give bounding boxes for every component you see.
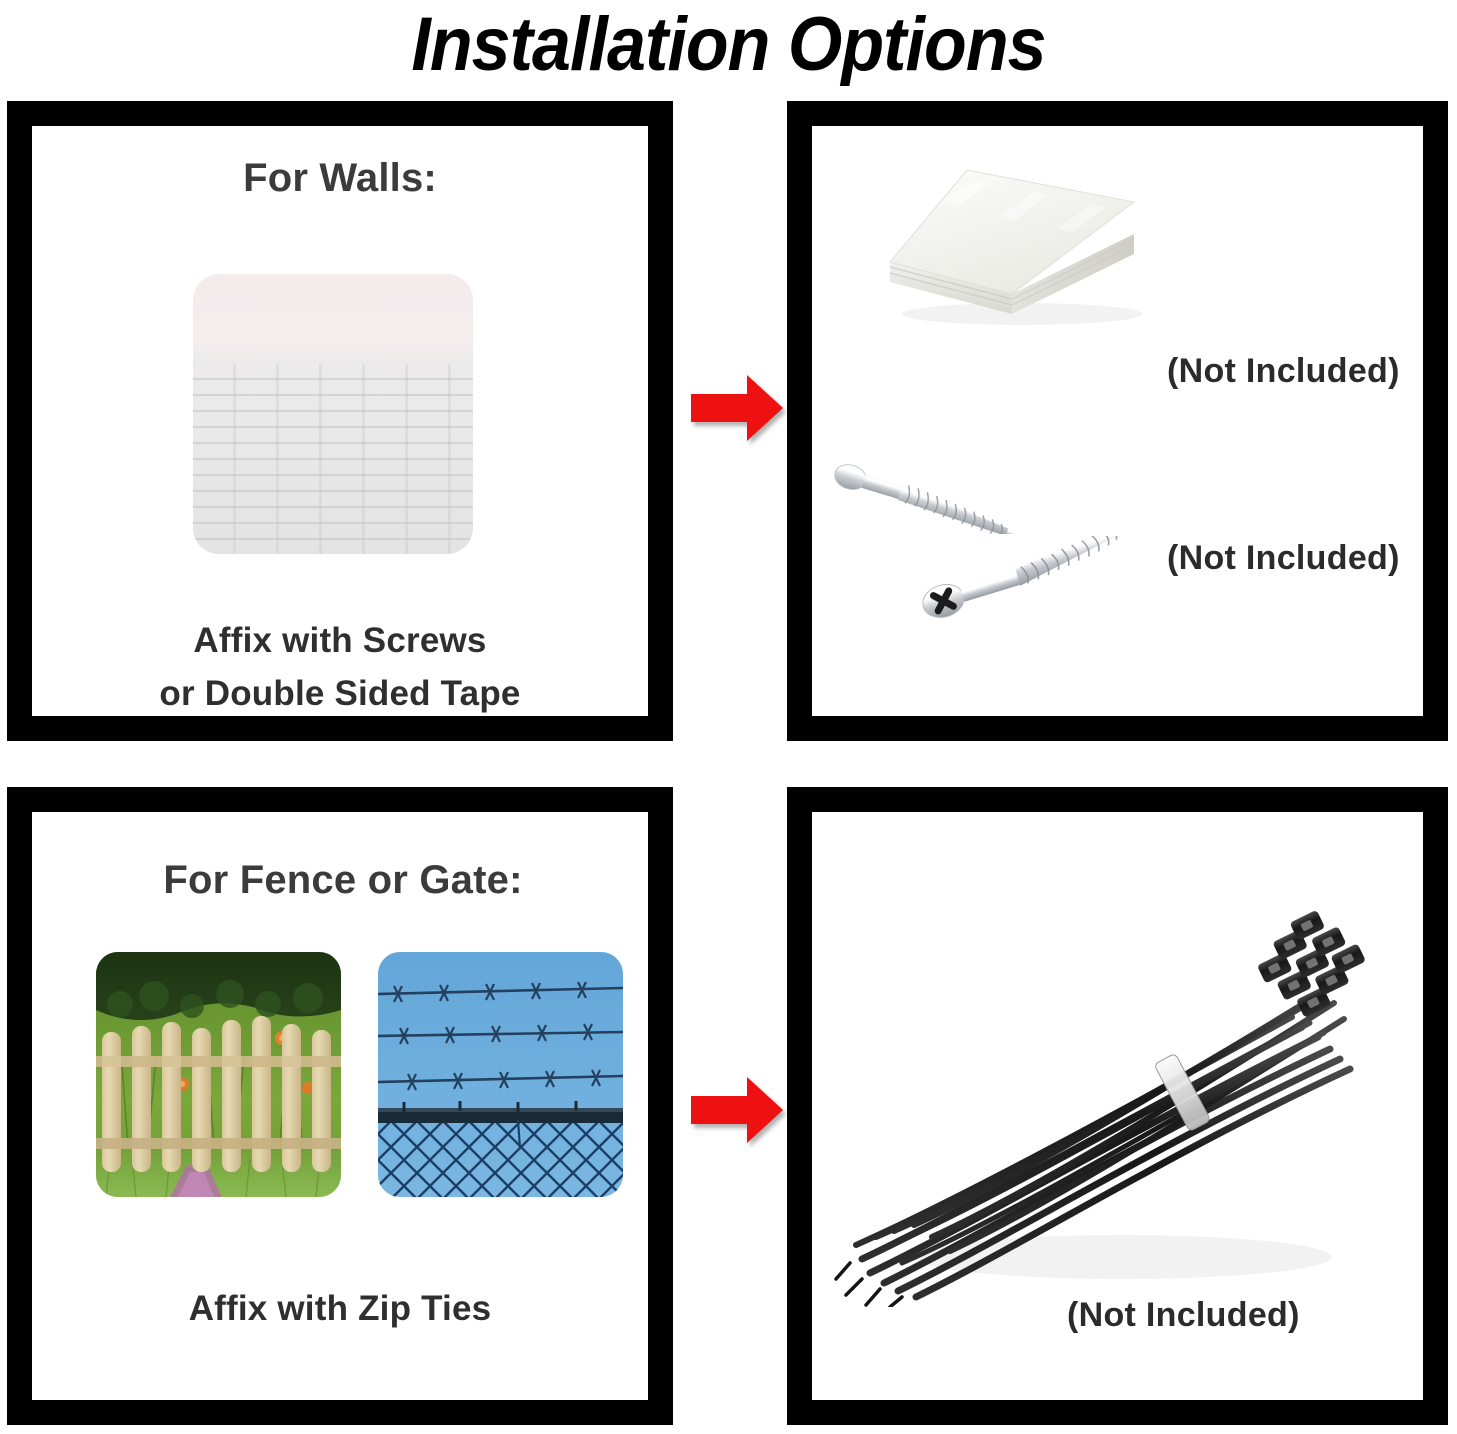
wood-screw-lower-image <box>917 536 1167 626</box>
red-right-arrow-icon <box>689 372 785 444</box>
page-title: Installation Options <box>58 0 1398 90</box>
for-walls-caption: Affix with Screws or Double Sided Tape <box>32 614 648 716</box>
double-sided-tape-stack-image <box>872 154 1172 329</box>
zip-ties-bundle-image <box>832 907 1412 1307</box>
wood-screw-upper-image <box>830 456 1060 534</box>
chain-link-fence-photo <box>378 952 623 1197</box>
for-walls-heading: For Walls: <box>32 154 648 202</box>
wooden-picket-fence-photo <box>96 952 341 1197</box>
for-fence-or-gate-heading: For Fence or Gate: <box>32 856 648 904</box>
tape-not-included-label: (Not Included) <box>1167 351 1400 391</box>
panel-for-fence-or-gate: For Fence or Gate: <box>7 787 673 1425</box>
for-fence-caption: Affix with Zip Ties <box>32 1282 648 1335</box>
panel-for-walls-content: For Walls: Affix with Screws or Double S… <box>32 126 648 716</box>
panel-zip-ties: (Not Included) <box>787 787 1448 1425</box>
red-right-arrow-icon-bottom <box>689 1074 785 1146</box>
zip-ties-not-included-label: (Not Included) <box>1067 1295 1300 1335</box>
white-brick-wall-photo <box>193 274 473 554</box>
brick-joint-lines <box>193 364 473 554</box>
panel-wall-hardware-content: (Not Included) <box>812 126 1423 716</box>
screws-not-included-label: (Not Included) <box>1167 538 1400 578</box>
for-walls-caption-line-1: Affix with Screws <box>32 614 648 667</box>
panel-for-walls: For Walls: Affix with Screws or Double S… <box>7 101 673 741</box>
for-walls-caption-line-2: or Double Sided Tape <box>32 667 648 716</box>
panel-wall-hardware: (Not Included) <box>787 101 1448 741</box>
panel-for-fence-or-gate-content: For Fence or Gate: <box>32 812 648 1400</box>
panel-zip-ties-content: (Not Included) <box>812 812 1423 1400</box>
